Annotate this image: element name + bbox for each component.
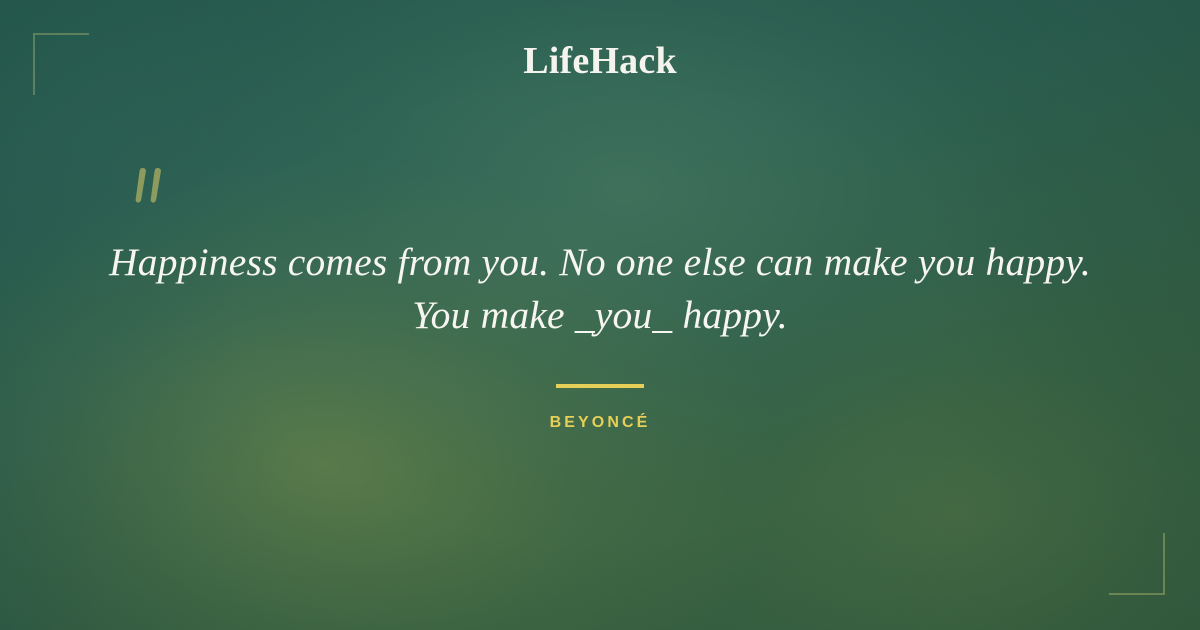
quote-author: BEYONCÉ bbox=[0, 414, 1200, 432]
quotation-mark-icon bbox=[130, 166, 178, 218]
brand-logo: LifeHack bbox=[0, 39, 1200, 83]
quote-text: Happiness comes from you. No one else ca… bbox=[60, 236, 1140, 342]
corner-bracket-bottom-right-icon bbox=[1109, 533, 1165, 595]
gold-divider-rule bbox=[556, 384, 644, 388]
quote-card: LifeHack Happiness comes from you. No on… bbox=[0, 0, 1200, 630]
